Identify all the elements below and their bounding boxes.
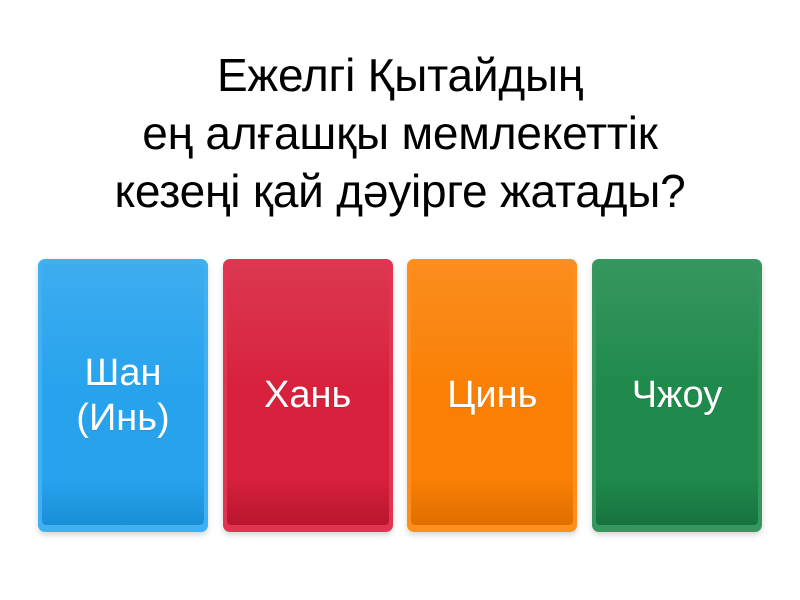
quiz-question-screen: Ежелгі Қытайдың ең алғашқы мемлекеттік к…: [0, 0, 800, 600]
answer-option-3-label: Цинь: [441, 373, 543, 418]
answer-option-1[interactable]: Шан (Инь): [38, 259, 208, 532]
answer-option-4[interactable]: Чжоу: [592, 259, 762, 532]
answer-option-1-label: Шан (Инь): [70, 351, 175, 441]
answer-options-row: Шан (Инь) Хань Цинь Чжоу: [38, 259, 762, 532]
question-area: Ежелгі Қытайдың ең алғашқы мемлекеттік к…: [0, 46, 800, 220]
answer-option-4-label: Чжоу: [626, 373, 728, 418]
answer-option-3[interactable]: Цинь: [407, 259, 577, 532]
answer-option-2-label: Хань: [258, 373, 357, 418]
answer-option-2[interactable]: Хань: [223, 259, 393, 532]
question-text: Ежелгі Қытайдың ең алғашқы мемлекеттік к…: [0, 46, 800, 220]
